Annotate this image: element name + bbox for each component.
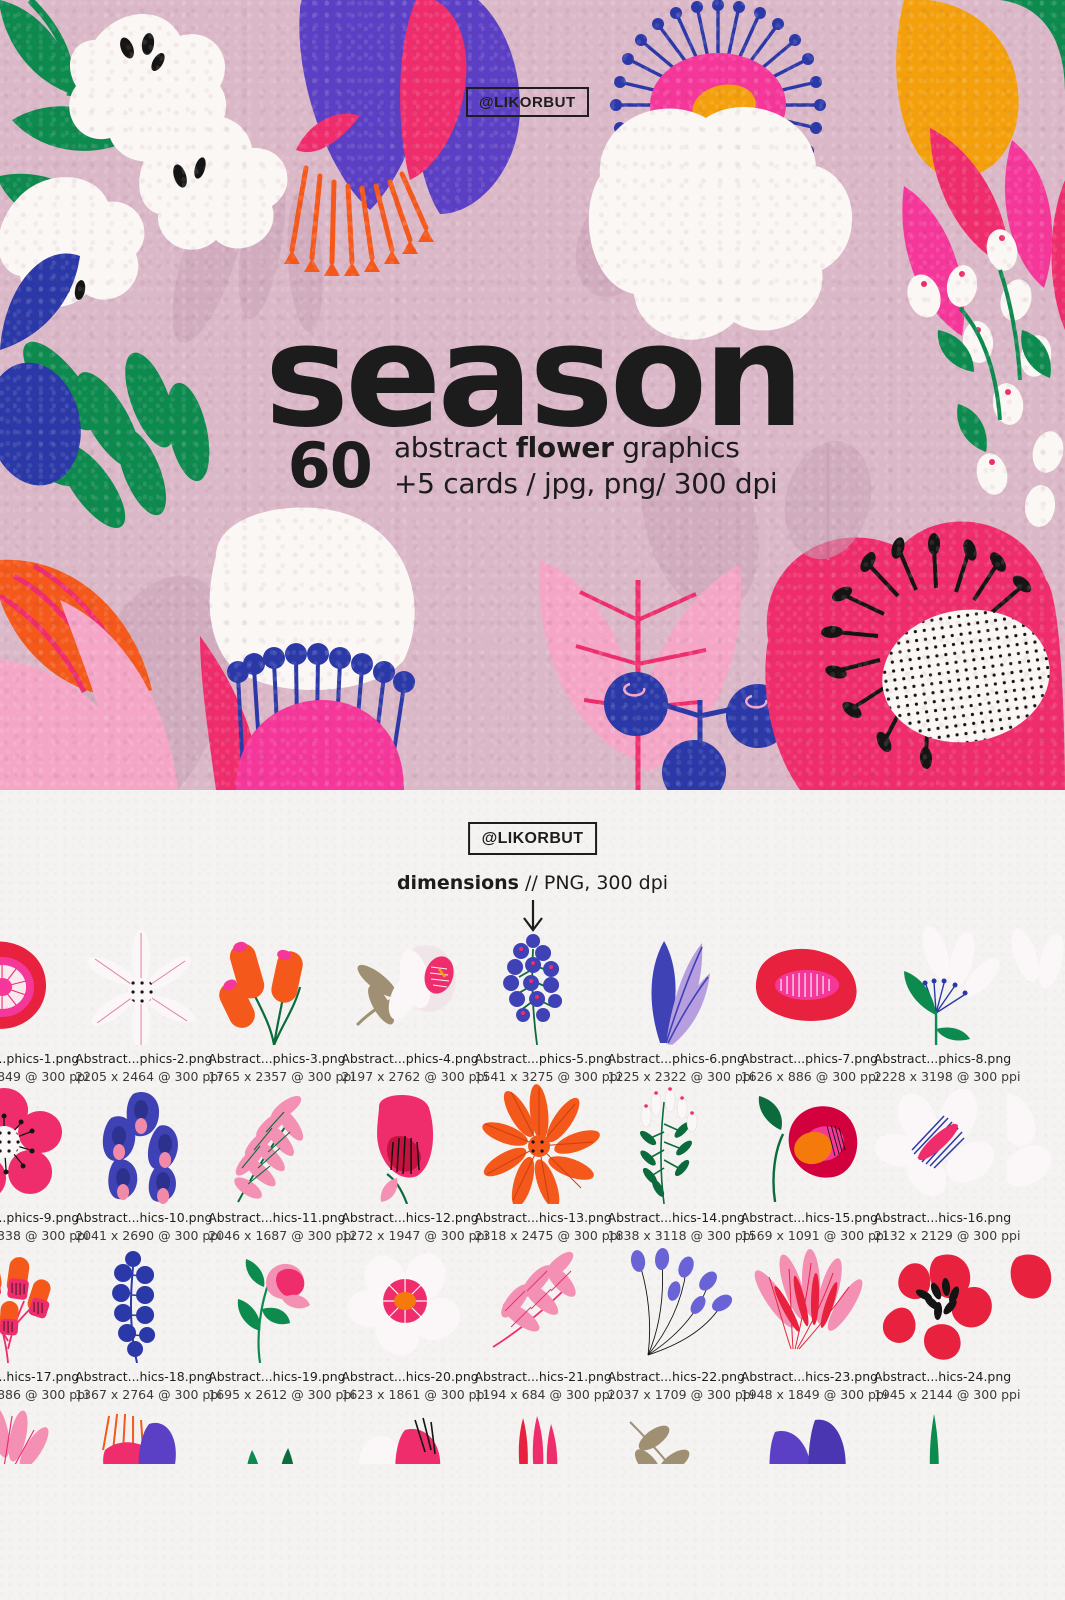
file-name: Abstract...hics-10.png xyxy=(75,1210,208,1225)
file-name: Abstract...phics-2.png xyxy=(75,1051,208,1066)
grid-row-partial xyxy=(0,1402,1007,1464)
thumbnail-caption: Abstract...phics-9.png 2440 x 2338 @ 300… xyxy=(0,1210,75,1243)
grid-cell[interactable]: Abstract...phics-4.png 2197 x 2762 @ 300… xyxy=(341,925,474,1084)
grid-inner: Abstract...phics-1.png 1782 x 1849 @ 300… xyxy=(0,925,1065,1464)
grid-cell[interactable] xyxy=(608,1402,741,1464)
thumbnail-blue-berry-sprig xyxy=(475,925,608,1045)
file-dimensions: 1272 x 1947 @ 300 ppi xyxy=(341,1228,474,1243)
grid-cell[interactable]: Abstract...hics-23.png 1948 x 1849 @ 300… xyxy=(741,1243,874,1402)
file-name: Abstract...phics-3.png xyxy=(208,1051,341,1066)
file-dimensions: 2037 x 1709 @ 300 ppi xyxy=(608,1387,741,1402)
dimensions-label: dimensions xyxy=(397,872,519,894)
file-name: Abstract...hics-14.png xyxy=(608,1210,741,1225)
file-dimensions: 2132 x 2129 @ 300 ppi xyxy=(874,1228,1007,1243)
grid-cell[interactable]: Abstract...hics-19.png 1695 x 2612 @ 300… xyxy=(208,1243,341,1402)
file-name: Abstract...hics-11.png xyxy=(208,1210,341,1225)
thumbnail-caption: Abstract...phics-5.png 1541 x 3275 @ 300… xyxy=(475,1051,608,1084)
grid-cell[interactable]: Abstract...phics-1.png 1782 x 1849 @ 300… xyxy=(0,925,75,1084)
file-name: Abstract...phics-5.png xyxy=(475,1051,608,1066)
grid-cell[interactable]: Abstract...hics-11.png 2046 x 1687 @ 300… xyxy=(208,1084,341,1243)
thumbnail-caption: Abstract...hics-21.png 1194 x 684 @ 300 … xyxy=(475,1369,608,1402)
thumbnail-caption: Abstract...hics-11.png 2046 x 1687 @ 300… xyxy=(208,1210,341,1243)
page-title: season xyxy=(0,312,1065,443)
file-dimensions: 1695 x 2612 @ 300 ppi xyxy=(208,1387,341,1402)
grid-cell[interactable]: Abstract...phics-3.png 1765 x 2357 @ 300… xyxy=(208,925,341,1084)
file-dimensions: 1945 x 2144 @ 300 ppi xyxy=(874,1387,1007,1402)
thumbnail-orange-purple-bloom xyxy=(75,1402,208,1464)
thumbnail-caption: Abstract...phics-8.png 2228 x 3198 @ 300… xyxy=(874,1051,1007,1084)
file-name: Abstract...hics-15.png xyxy=(741,1210,874,1225)
file-dimensions: 1225 x 2322 @ 300 ppi xyxy=(608,1069,741,1084)
file-dimensions: 2197 x 2762 @ 300 ppi xyxy=(341,1069,474,1084)
thumbnail-caption: Abstract...phics-6.png 1225 x 2322 @ 300… xyxy=(608,1051,741,1084)
file-name: Abstract...hics-13.png xyxy=(475,1210,608,1225)
file-name: Abstract...phics-7.png xyxy=(741,1051,874,1066)
thumbnail-caption: Abstract...hics-19.png 1695 x 2612 @ 300… xyxy=(208,1369,341,1402)
file-dimensions: 1367 x 2764 @ 300 ppi xyxy=(75,1387,208,1402)
file-dimensions: 1765 x 2357 @ 300 ppi xyxy=(208,1069,341,1084)
grid-cell[interactable]: Abstract...hics-18.png 1367 x 2764 @ 300… xyxy=(75,1243,208,1402)
thumbnail-purple-wing-pair xyxy=(741,1402,874,1464)
grid-cell[interactable]: Abstract...hics-13.png 2318 x 2475 @ 300… xyxy=(475,1084,608,1243)
desc-pre: abstract xyxy=(394,431,516,464)
file-dimensions: 1626 x 886 @ 300 ppi xyxy=(741,1069,874,1084)
thumbnail-caption: Abstract...hics-14.png 1838 x 3118 @ 300… xyxy=(608,1210,741,1243)
thumbnail-red-pod xyxy=(741,1084,874,1204)
file-name: Abstract...hics-16.png xyxy=(874,1210,1007,1225)
thumbnail-caption: Abstract...hics-23.png 1948 x 1849 @ 300… xyxy=(741,1369,874,1402)
grid-cell[interactable] xyxy=(75,1402,208,1464)
thumbnail-caption: Abstract...hics-16.png 2132 x 2129 @ 300… xyxy=(874,1210,1007,1243)
grid-cell[interactable]: Abstract...hics-14.png 1838 x 3118 @ 300… xyxy=(608,1084,741,1243)
file-name: Abstract...hics-18.png xyxy=(75,1369,208,1384)
file-dimensions: 2041 x 2690 @ 300 ppi xyxy=(75,1228,208,1243)
thumbnail-green-leaf-pair xyxy=(208,1402,341,1464)
file-dimensions: 1948 x 1849 @ 300 ppi xyxy=(741,1387,874,1402)
file-name: Abstract...hics-22.png xyxy=(608,1369,741,1384)
thumbnail-white-daisy xyxy=(75,925,208,1045)
thumbnail-caption: Abstract...hics-22.png 2037 x 1709 @ 300… xyxy=(608,1369,741,1402)
thumbnail-orange-pink-pods xyxy=(0,1243,75,1363)
grid-cell[interactable]: Abstract...phics-8.png xyxy=(1007,925,1065,1084)
file-dimensions: 2046 x 1687 @ 300 ppi xyxy=(208,1228,341,1243)
grid-row: Abstract...hics-17.png 2054 x 2886 @ 300… xyxy=(0,1243,1007,1402)
file-name: Abstract...hics-24.png xyxy=(874,1369,1007,1384)
file-name: Abstract...phics-8.png xyxy=(874,1051,1007,1066)
thumbnail-red-pink-spikes xyxy=(475,1402,608,1464)
grid-cell[interactable] xyxy=(208,1402,341,1464)
thumbnail-pink-anemone xyxy=(0,1084,75,1204)
thumbnail-overflow xyxy=(1007,1243,1065,1363)
thumbnail-blue-berry-column xyxy=(75,1243,208,1363)
grid-cell[interactable]: Abstract...hics-22.png 2037 x 1709 @ 300… xyxy=(608,1243,741,1402)
thumbnail-white-bud-sprig xyxy=(608,1084,741,1204)
thumbnail-caption: Abstract...phics-1.png 1782 x 1849 @ 300… xyxy=(0,1051,75,1084)
grid-cell[interactable]: Abstract...phics-5.png 1541 x 3275 @ 300… xyxy=(475,925,608,1084)
grid-row: Abstract...phics-1.png 1782 x 1849 @ 300… xyxy=(0,925,1007,1084)
thumbnail-pink-feather-fan xyxy=(741,1243,874,1363)
file-name: Abstract...hics-23.png xyxy=(741,1369,874,1384)
grid-cell[interactable]: Abstract...hics-21.png 1194 x 684 @ 300 … xyxy=(475,1243,608,1402)
grid-cell[interactable]: Abstract...hics-12.png 1272 x 1947 @ 300… xyxy=(341,1084,474,1243)
file-dimensions: 1569 x 1091 @ 300 ppi xyxy=(741,1228,874,1243)
grid-cell[interactable] xyxy=(475,1402,608,1464)
thumbnail-caption: Abstract...phics-4.png 2197 x 2762 @ 300… xyxy=(341,1051,474,1084)
thumbnail-caption: Abstract...hics-10.png 2041 x 2690 @ 300… xyxy=(75,1210,208,1243)
file-dimensions: 2205 x 2464 @ 300 ppi xyxy=(75,1069,208,1084)
grid-cell[interactable]: Abstract...phics-6.png 1225 x 2322 @ 300… xyxy=(608,925,741,1084)
file-dimensions: 2318 x 2475 @ 300 ppi xyxy=(475,1228,608,1243)
grid-cell[interactable] xyxy=(341,1402,474,1464)
file-name: Abstract...hics-12.png xyxy=(341,1210,474,1225)
grid-cell[interactable]: Abstract...phics-7.png 1626 x 886 @ 300 … xyxy=(741,925,874,1084)
thumbnail-green-spike xyxy=(874,1402,1007,1464)
file-name: Abstract...phics-4.png xyxy=(341,1051,474,1066)
grid-cell[interactable]: Abstract...hics-16.png xyxy=(1007,1084,1065,1243)
thumbnail-white-flower-blue-eye xyxy=(874,1084,1007,1204)
thumbnail-blue-seedhead-fan xyxy=(608,1243,741,1363)
pink-dotted-flower xyxy=(765,522,1065,790)
thumbnail-pink-bellflower xyxy=(208,1243,341,1363)
thumbnail-caption: Abstract...hics-13.png 2318 x 2475 @ 300… xyxy=(475,1210,608,1243)
file-name: Abstract...hics-19.png xyxy=(208,1369,341,1384)
thumbnail-orange-buds xyxy=(208,925,341,1045)
file-name: Abstract...phics-9.png xyxy=(0,1210,75,1225)
file-name: Abstract...phics-1.png xyxy=(0,1051,75,1066)
file-name: Abstract...hics-21.png xyxy=(475,1369,608,1384)
thumbnail-caption: Abstract...phics-3.png 1765 x 2357 @ 300… xyxy=(208,1051,341,1084)
thumbnail-caption: Abstract...phics-8.png xyxy=(1007,1051,1065,1066)
watermark-badge-lower: @LIKORBUT xyxy=(468,822,598,855)
thumbnail-caption: Abstract...hics-16.png xyxy=(1007,1210,1065,1225)
grid-cell[interactable]: Abstract...hics-20.png 1623 x 1861 @ 300… xyxy=(341,1243,474,1402)
thumbnail-white-petal-blue-stamen xyxy=(874,925,1007,1045)
hero-description-line2: +5 cards / jpg, png/ 300 dpi xyxy=(394,466,777,502)
grid-cell[interactable]: Abstract...hics-24.png xyxy=(1007,1243,1065,1402)
grid-cell[interactable]: Abstract...hics-16.png 2132 x 2129 @ 300… xyxy=(874,1084,1007,1243)
hero-subtitle: 60 abstract flower graphics +5 cards / j… xyxy=(0,430,1065,502)
watermark-badge-hero: @LIKORBUT xyxy=(466,87,589,117)
grid-cell[interactable]: Abstract...phics-9.png 2440 x 2338 @ 300… xyxy=(0,1084,75,1243)
file-dimensions: 1838 x 3118 @ 300 ppi xyxy=(608,1228,741,1243)
grid-cell[interactable]: Abstract...hics-24.png 1945 x 2144 @ 300… xyxy=(874,1243,1007,1402)
grid-cell[interactable] xyxy=(874,1402,1007,1464)
file-name: Abstract...phics-6.png xyxy=(608,1051,741,1066)
thumbnail-overflow xyxy=(1007,1084,1065,1204)
thumbnail-red-cherry-blossom xyxy=(874,1243,1007,1363)
purple-tulip xyxy=(284,0,520,276)
thumbnail-caption: Abstract...hics-18.png 1367 x 2764 @ 300… xyxy=(75,1369,208,1402)
thumbnail-white-poppy-orange-center xyxy=(341,1243,474,1363)
file-dimensions: 1782 x 1849 @ 300 ppi xyxy=(0,1069,75,1084)
thumbnail-caption: Abstract...hics-20.png 1623 x 1861 @ 300… xyxy=(341,1369,474,1402)
thumbnail-caption: Abstract...hics-15.png 1569 x 1091 @ 300… xyxy=(741,1210,874,1243)
thumbnail-pink-fern xyxy=(208,1084,341,1204)
grid-cell[interactable]: Abstract...phics-2.png 2205 x 2464 @ 300… xyxy=(75,925,208,1084)
grid-cell[interactable] xyxy=(0,1402,75,1464)
thumbnail-purple-fronds xyxy=(608,925,741,1045)
thumbnail-overflow xyxy=(1007,925,1065,1045)
thumbnail-grid: Abstract...phics-1.png 1782 x 1849 @ 300… xyxy=(0,925,1065,1464)
thumbnail-caption: Abstract...hics-12.png 1272 x 1947 @ 300… xyxy=(341,1210,474,1243)
thumbnail-caption: Abstract...hics-24.png xyxy=(1007,1369,1065,1384)
thumbnail-orange-daisy xyxy=(475,1084,608,1204)
hero-description-line1: abstract flower graphics xyxy=(394,430,777,466)
dimensions-caption: dimensions // PNG, 300 dpi xyxy=(0,872,1065,894)
hero-banner: @LIKORBUT season 60 abstract flower grap… xyxy=(0,0,1065,790)
thumbnail-caption: Abstract...hics-24.png 1945 x 2144 @ 300… xyxy=(874,1369,1007,1402)
thumbnail-pink-leaf-sprig xyxy=(475,1243,608,1363)
grid-cell[interactable]: Abstract...phics-8.png 2228 x 3198 @ 300… xyxy=(874,925,1007,1084)
poster-page: @LIKORBUT season 60 abstract flower grap… xyxy=(0,0,1065,1600)
file-dimensions: 2440 x 2338 @ 300 ppi xyxy=(0,1228,75,1243)
thumbnail-caption: Abstract...hics-17.png 2054 x 2886 @ 300… xyxy=(0,1369,75,1402)
central-cream-bulb xyxy=(210,507,415,790)
file-name: Abstract...hics-20.png xyxy=(341,1369,474,1384)
thumbnail-poppy-red-round xyxy=(0,925,75,1045)
thumbnail-blue-iris-cluster xyxy=(75,1084,208,1204)
grid-cell[interactable]: Abstract...hics-15.png 1569 x 1091 @ 300… xyxy=(741,1084,874,1243)
grid-cell[interactable]: Abstract...hics-10.png 2041 x 2690 @ 300… xyxy=(75,1084,208,1243)
grid-row: Abstract...phics-9.png 2440 x 2338 @ 300… xyxy=(0,1084,1007,1243)
graphics-count: 60 xyxy=(288,435,372,497)
thumbnail-white-bloom-khaki xyxy=(341,925,474,1045)
desc-bold: flower xyxy=(516,431,614,464)
thumbnail-caption: Abstract...phics-2.png 2205 x 2464 @ 300… xyxy=(75,1051,208,1084)
file-dimensions: 1623 x 1861 @ 300 ppi xyxy=(341,1387,474,1402)
desc-post: graphics xyxy=(614,431,740,464)
thumbnail-pink-tulip xyxy=(341,1084,474,1204)
dimensions-format: // PNG, 300 dpi xyxy=(519,872,668,894)
file-dimensions: 2228 x 3198 @ 300 ppi xyxy=(874,1069,1007,1084)
arrow-down-icon xyxy=(518,898,548,934)
thumbnail-red-blob xyxy=(741,925,874,1045)
file-dimensions: 1541 x 3275 @ 300 ppi xyxy=(475,1069,608,1084)
file-name: Abstract...hics-17.png xyxy=(0,1369,75,1384)
grid-cell[interactable] xyxy=(741,1402,874,1464)
hero-description: abstract flower graphics +5 cards / jpg,… xyxy=(394,430,777,502)
thumbnail-khaki-olive-branch xyxy=(608,1402,741,1464)
grid-cell[interactable]: Abstract...hics-17.png 2054 x 2886 @ 300… xyxy=(0,1243,75,1402)
thumbnail-caption: Abstract...phics-7.png 1626 x 886 @ 300 … xyxy=(741,1051,874,1084)
file-dimensions: 1194 x 684 @ 300 ppi xyxy=(475,1387,608,1402)
file-dimensions: 2054 x 2886 @ 300 ppi xyxy=(0,1387,75,1402)
thumbnail-white-pink-poppy xyxy=(341,1402,474,1464)
thumbnail-pink-fan-burst xyxy=(0,1402,75,1464)
